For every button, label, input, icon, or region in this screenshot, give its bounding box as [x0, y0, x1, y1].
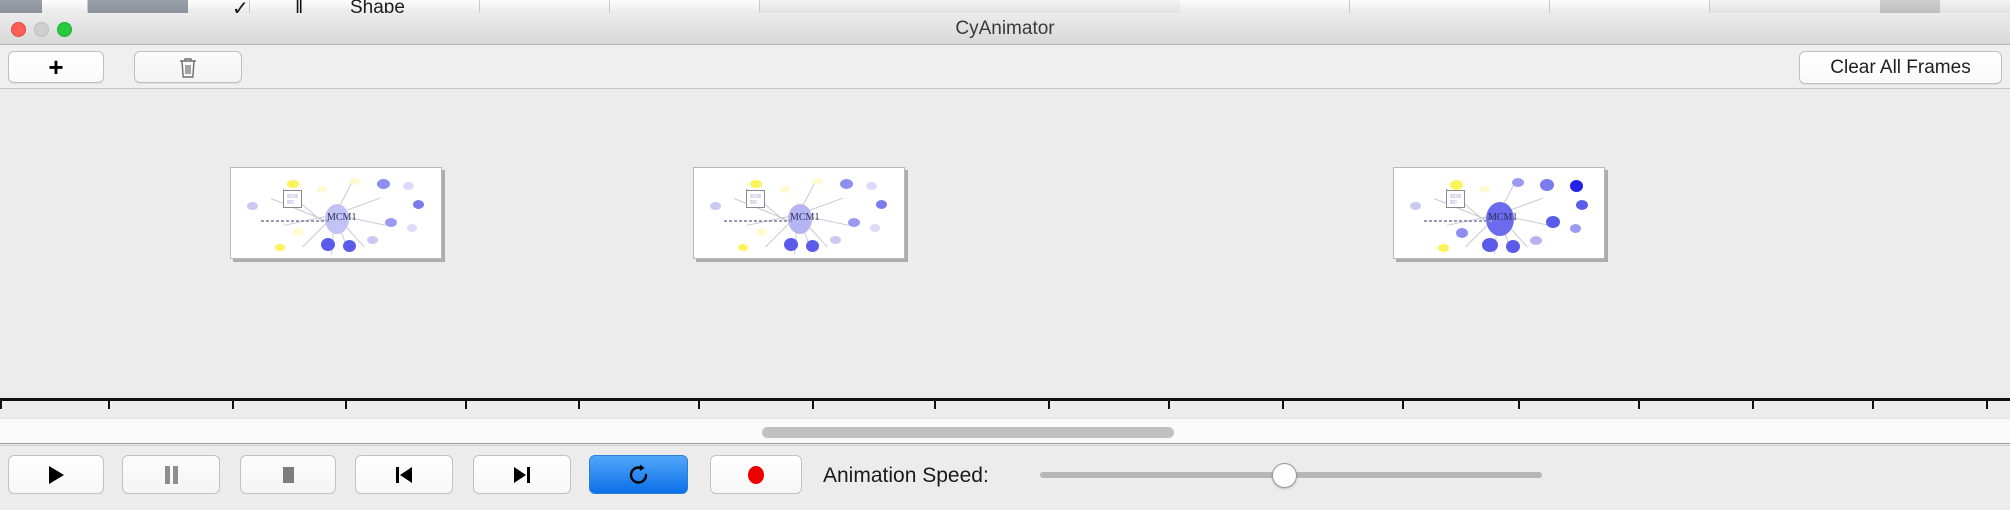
network-thumbnail: ▯▯▯▯▯▯▯▯ MCM1	[231, 168, 441, 258]
clear-all-frames-label: Clear All Frames	[1830, 57, 1970, 79]
skip-back-icon	[393, 464, 415, 486]
keyframe-thumbnail[interactable]: ▯▯▯▯▯▯▯▯ MCM1	[693, 167, 905, 259]
ruler-tick-minor	[345, 401, 347, 409]
network-hub-label: MCM1	[790, 212, 819, 223]
prev-frame-button[interactable]	[355, 455, 453, 494]
clear-all-frames-button[interactable]: Clear All Frames	[1799, 51, 2002, 84]
background-windows-strip: ✓ ‖ Shape	[0, 0, 2010, 13]
ruler-tick-minor	[1518, 401, 1520, 409]
scrollbar-thumb[interactable]	[762, 427, 1174, 438]
next-frame-button[interactable]	[473, 455, 571, 494]
trash-icon	[178, 56, 198, 79]
background-window-label: Shape	[350, 0, 405, 13]
delete-frame-button[interactable]	[134, 51, 242, 83]
network-thumbnail: ▯▯▯▯▯▯▯▯ MCM1	[694, 168, 904, 258]
ruler-tick-major	[1872, 401, 1874, 409]
ruler-tick-minor	[812, 401, 814, 409]
add-frame-button[interactable]: +	[8, 51, 104, 83]
title-bar: CyAnimator	[0, 13, 2010, 45]
ruler-tick-major	[0, 401, 2, 409]
ruler-tick-major	[1638, 401, 1640, 409]
skip-forward-icon	[511, 464, 533, 486]
ruler-tick-major	[698, 401, 700, 409]
ruler-tick-major	[465, 401, 467, 409]
keyframe-thumbnail[interactable]: ▯▯▯▯▯▯▯▯ MCM1	[230, 167, 442, 259]
ruler-tick-major	[232, 401, 234, 409]
ruler-tick-minor	[1048, 401, 1050, 409]
ruler-tick-major	[1168, 401, 1170, 409]
record-icon	[745, 464, 767, 486]
play-button[interactable]	[8, 455, 104, 494]
pause-icon	[161, 464, 181, 486]
window-title: CyAnimator	[0, 13, 2010, 45]
timeline-panel[interactable]: ▯▯▯▯▯▯▯▯ MCM1	[0, 89, 2010, 409]
ruler-tick-major	[934, 401, 936, 409]
ruler-tick-minor	[1282, 401, 1284, 409]
timeline-ruler-line	[0, 398, 2010, 401]
network-hub-label: MCM1	[327, 212, 356, 223]
pause-button[interactable]	[122, 455, 220, 494]
plus-icon: +	[48, 54, 63, 80]
stop-button[interactable]	[240, 455, 336, 494]
ruler-tick-major	[1402, 401, 1404, 409]
ruler-tick-minor	[1752, 401, 1754, 409]
ruler-tick-minor	[1986, 401, 1988, 409]
timeline-scrollbar[interactable]	[0, 418, 2010, 444]
loop-icon	[627, 463, 651, 487]
play-icon	[46, 464, 66, 486]
network-hub-label: MCM1	[1488, 212, 1517, 223]
toolbar: + Clear All Frames	[0, 45, 2010, 89]
keyframe-thumbnail[interactable]: ▯▯▯▯▯▯▯▯ MCM1	[1393, 167, 1605, 259]
stop-icon	[278, 464, 298, 486]
network-thumbnail: ▯▯▯▯▯▯▯▯ MCM1	[1394, 168, 1604, 258]
loop-button[interactable]	[589, 455, 688, 494]
playback-control-bar: Animation Speed:	[0, 445, 2010, 510]
ruler-tick-minor	[578, 401, 580, 409]
animation-speed-label: Animation Speed:	[823, 464, 989, 488]
cyanimator-window: ✓ ‖ Shape CyAnimator + Clear All Frames	[0, 0, 2010, 510]
ruler-tick-minor	[108, 401, 110, 409]
animation-speed-slider-thumb[interactable]	[1272, 463, 1297, 488]
record-button[interactable]	[710, 455, 802, 494]
